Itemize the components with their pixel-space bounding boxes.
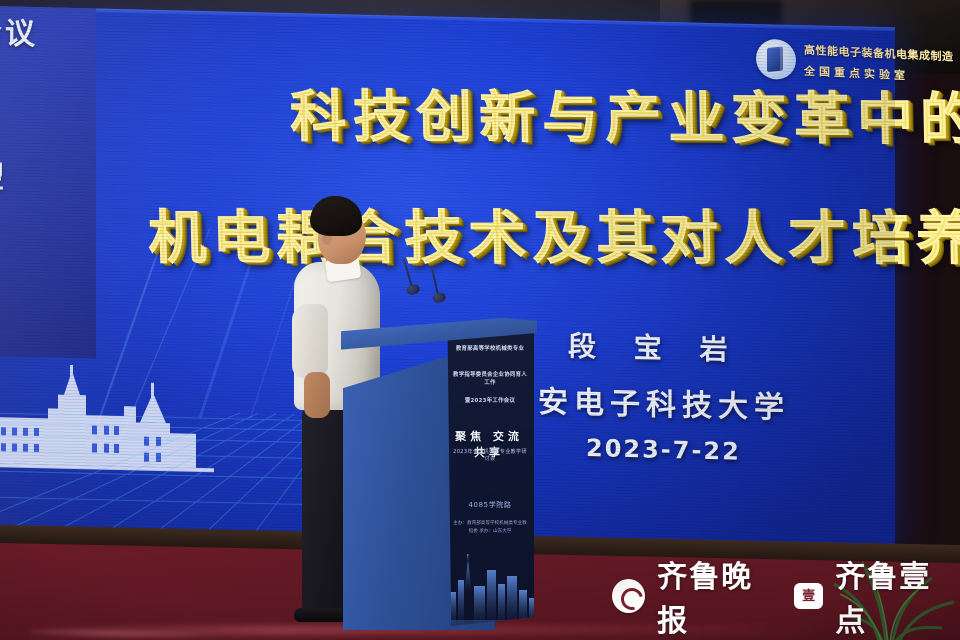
speaker-hair — [310, 196, 362, 236]
podium-panel-line-3: 暨2023年工作会议 — [452, 398, 528, 406]
speaker-sleeve — [292, 304, 328, 378]
podium-panel-line-1: 教育部高等学校机械类专业 — [452, 346, 528, 354]
podium-brand-sub: 2023年全国机械类专业教学研讨会 — [452, 448, 528, 462]
watermark-brand-2: 齐鲁壹点 — [835, 552, 960, 640]
podium-panel-line-2: 教学指导委员会企业协同育人工作 — [452, 372, 528, 388]
city-skyline-icon — [444, 540, 534, 626]
speaker-arm — [304, 372, 330, 418]
podium-url: 4085学院路 — [452, 500, 528, 510]
watermark-brand-1: 齐鲁晚报 — [657, 552, 782, 640]
podium: 教育部高等学校机械类专业 教学指导委员会企业协同育人工作 暨2023年工作会议 … — [341, 318, 537, 630]
watermark: 齐鲁晚报 壹 齐鲁壹点 — [612, 552, 960, 640]
yidian-badge-text: 壹 — [802, 590, 815, 603]
yidian-square-icon: 壹 — [794, 583, 823, 609]
qilu-swirl-logo-icon — [612, 579, 645, 613]
screenshot-root: 会议 ： 望 科技创新与产业变革中的 机电耦合技术及其对人才培养需求 段 宝 岩… — [0, 0, 960, 640]
podium-front-panel: 教育部高等学校机械类专业 教学指导委员会企业协同育人工作 暨2023年工作会议 … — [444, 320, 534, 626]
podium-note: 主办：教育部高等学校机械类专业教指委 承办：山东大学 — [452, 520, 528, 536]
